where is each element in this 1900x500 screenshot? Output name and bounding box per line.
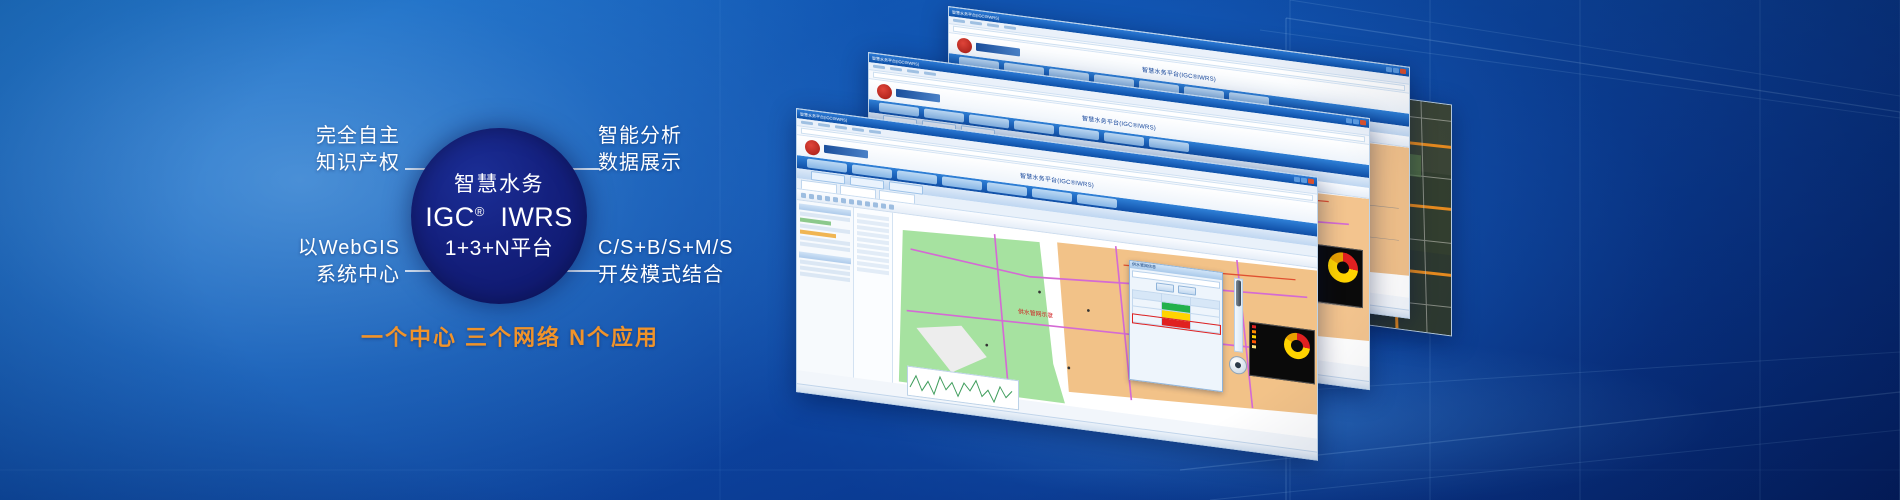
feature-top-left-line2: 知识产权 [170, 150, 400, 177]
legend-swatch-high [1252, 330, 1256, 334]
legend-swatch-low [1252, 340, 1256, 344]
legend-swatch-critical [1252, 325, 1256, 329]
registered-trademark-icon: ® [475, 204, 485, 219]
minimize-icon[interactable] [1294, 177, 1300, 183]
badge-line2-rest: IWRS [500, 202, 573, 232]
company-name [896, 89, 940, 103]
reset-button[interactable] [1178, 285, 1196, 295]
maximize-icon[interactable] [1393, 68, 1399, 74]
window-back-product-name: 智慧水务平台(IGC®IWRS) [1142, 64, 1216, 83]
company-name [824, 145, 868, 159]
badge-line1: 智慧水务 [454, 174, 544, 195]
feature-top-right-line1: 智能分析 [598, 125, 682, 147]
analytics-panel[interactable] [1249, 322, 1315, 385]
banner-stage: 完全自主 知识产权 以WebGIS 系统中心 智能分析 数据展示 C/S+B/S… [0, 0, 1900, 500]
feature-top-left-line1: 完全自主 [316, 125, 400, 147]
map-vertical-scrollbar[interactable] [1234, 278, 1243, 353]
analytics-legend [1252, 325, 1256, 351]
company-name [976, 43, 1020, 57]
feature-bottom-right-line1: C/S+B/S+M/S [598, 237, 734, 259]
legend-swatch-offline [1252, 345, 1256, 349]
badge-line3: 1+3+N平台 [445, 238, 554, 259]
maximize-icon[interactable] [1353, 119, 1359, 125]
company-logo-icon [877, 83, 892, 100]
company-logo-icon [957, 37, 972, 54]
maximize-icon[interactable] [1301, 177, 1307, 183]
supply-donut-chart [1284, 331, 1310, 360]
close-icon[interactable] [1360, 120, 1366, 126]
close-icon[interactable] [1400, 69, 1406, 75]
feature-diagram: 完全自主 知识产权 以WebGIS 系统中心 智能分析 数据展示 C/S+B/S… [0, 0, 820, 500]
window-front-feature-tree[interactable] [854, 208, 893, 383]
feature-bottom-left-line2: 系统中心 [170, 262, 400, 289]
minimize-icon[interactable] [1386, 67, 1392, 73]
company-logo-icon [805, 139, 820, 156]
close-icon[interactable] [1308, 178, 1314, 184]
tagline: 一个中心 三个网络 N个应用 [250, 320, 770, 352]
product-badge: 智慧水务 IGC® IWRS 1+3+N平台 [411, 128, 587, 304]
badge-line2-main: IGC [425, 202, 475, 232]
window-mid-product-name: 智慧水务平台(IGC®IWRS) [1082, 113, 1156, 132]
scrollbar-thumb[interactable] [1236, 280, 1241, 307]
query-button[interactable] [1156, 282, 1174, 292]
pipeline-info-dialog[interactable]: 供水管网信息 [1129, 260, 1223, 392]
feature-bottom-left-line1: 以WebGIS [298, 237, 400, 259]
minimize-icon[interactable] [1346, 118, 1352, 124]
feature-label-top-left: 完全自主 知识产权 [170, 123, 400, 177]
window-front-layer-tree[interactable] [797, 200, 854, 378]
supply-donut-chart [1328, 251, 1358, 285]
feature-label-bottom-left: 以WebGIS 系统中心 [170, 235, 400, 289]
application-windows: 智慧水务平台(IGC®IWRS) 智慧水务平台(IGC®IWRS) [760, 0, 1900, 500]
badge-line2: IGC® IWRS [425, 204, 573, 231]
legend-swatch-normal [1252, 335, 1256, 339]
window-front-product-name: 智慧水务平台(IGC®IWRS) [1020, 170, 1094, 189]
